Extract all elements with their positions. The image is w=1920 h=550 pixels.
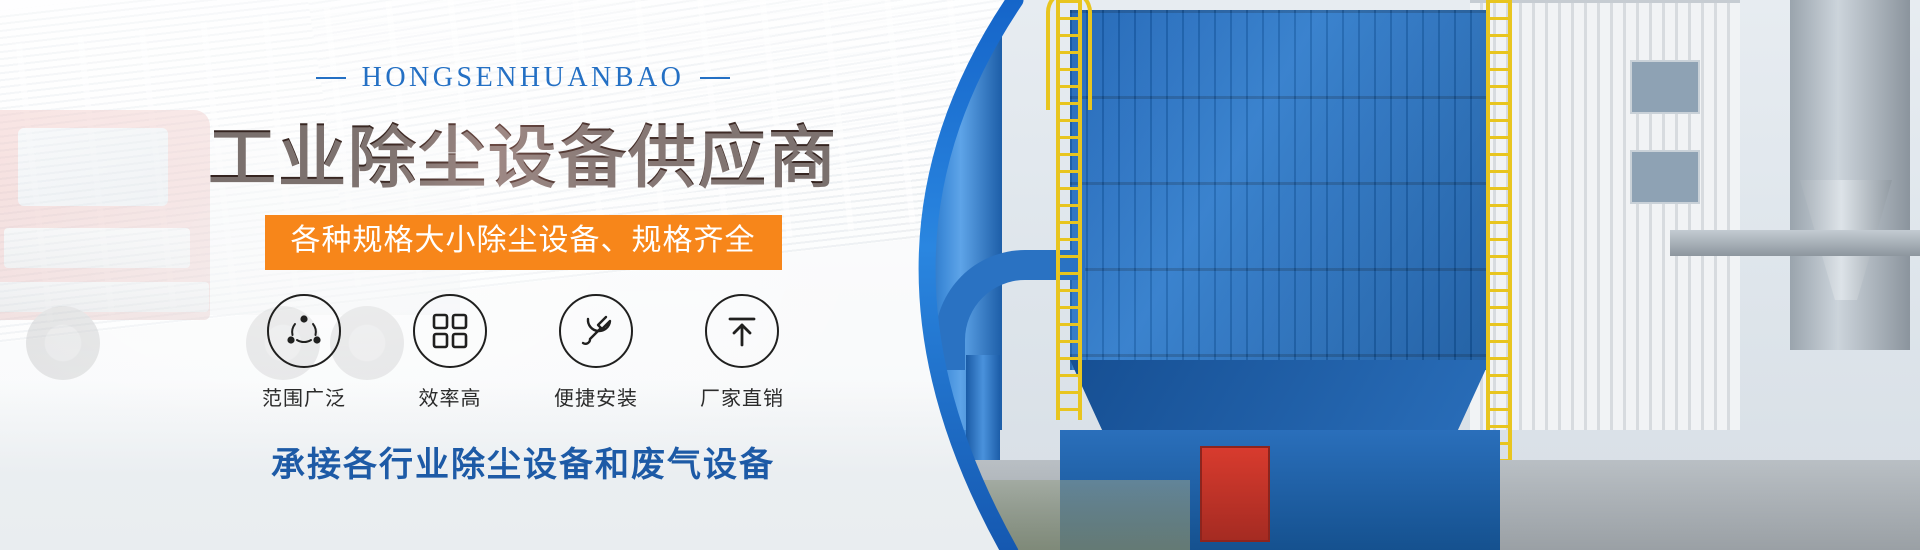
eyebrow-text: HONGSENHUANBAO [362, 62, 685, 94]
photo-horizontal-pipe [1670, 230, 1920, 256]
feature-item-install[interactable]: 便捷安装 [551, 294, 641, 411]
feature-label: 效率高 [419, 382, 482, 411]
feature-label: 厂家直销 [700, 382, 784, 411]
grid-squares-icon [431, 312, 469, 350]
eyebrow: HONGSENHUANBAO [316, 62, 731, 94]
wrench-circle-icon [576, 311, 616, 351]
feature-item-range[interactable]: 范围广泛 [259, 294, 349, 411]
subtitle-badge: 各种规格大小除尘设备、规格齐全 [265, 215, 782, 270]
tagline: 承接各行业除尘设备和废气设备 [271, 437, 775, 486]
photo-building-window [1630, 150, 1700, 204]
photo-building-window [1630, 60, 1700, 114]
photo-ladder [1486, 0, 1512, 470]
feature-icon-circle [413, 294, 487, 368]
arrow-up-bar-icon [723, 312, 761, 350]
feature-item-efficiency[interactable]: 效率高 [405, 294, 495, 411]
page-title: 工业除尘设备供应商 [208, 102, 838, 201]
feature-label: 范围广泛 [262, 382, 346, 411]
hero-banner: HONGSENHUANBAO 工业除尘设备供应商 各种规格大小除尘设备、规格齐全 [0, 0, 1920, 550]
feature-list: 范围广泛 效率高 [259, 294, 787, 411]
feature-icon-circle [559, 294, 633, 368]
banner-content: HONGSENHUANBAO 工业除尘设备供应商 各种规格大小除尘设备、规格齐全 [0, 0, 1010, 550]
share-nodes-icon [284, 311, 324, 351]
feature-item-factory-direct[interactable]: 厂家直销 [697, 294, 787, 411]
feature-icon-circle [705, 294, 779, 368]
feature-icon-circle [267, 294, 341, 368]
dash-left-icon [316, 77, 346, 79]
dash-right-icon [700, 77, 730, 79]
photo-baghouse-unit [1070, 10, 1490, 370]
feature-label: 便捷安装 [554, 382, 638, 411]
photo-ladder-cage [1046, 0, 1092, 110]
photo-access-door [1200, 446, 1270, 542]
